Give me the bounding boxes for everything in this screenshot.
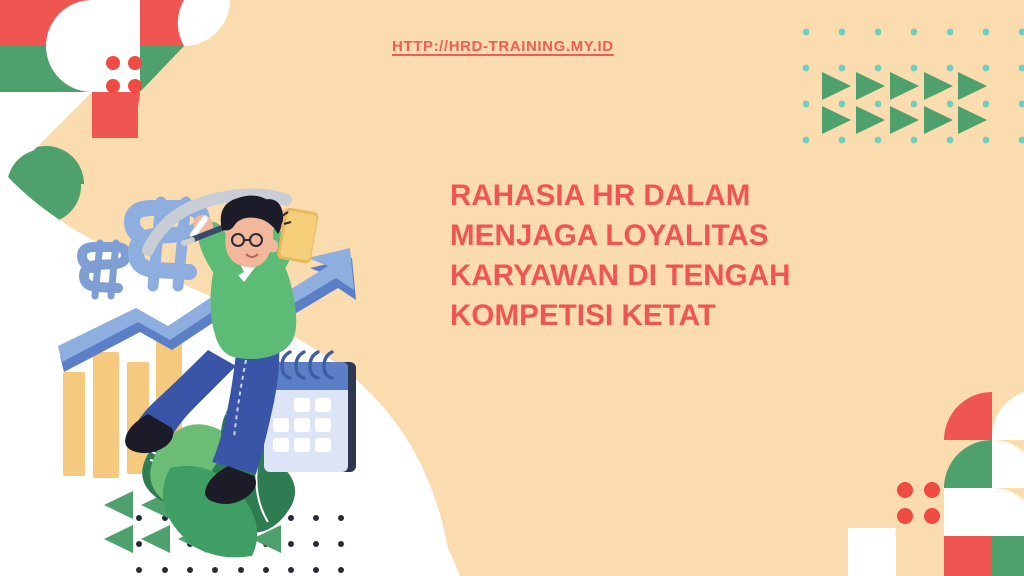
ear [270, 240, 278, 253]
website-url-link[interactable]: HTTP://HRD-TRAINING.MY.ID [392, 38, 614, 55]
poster-canvas: HTTP://HRD-TRAINING.MY.ID RAHASIA HR DAL… [0, 0, 1024, 576]
dollar-sign-small-icon [82, 243, 126, 296]
illustration-group [58, 194, 356, 557]
headline-line-1: RAHASIA HR DALAM [450, 176, 920, 216]
headline-line-3: KARYAWAN DI TENGAH [450, 256, 920, 296]
headline-line-2: MENJAGA LOYALITAS [450, 216, 920, 256]
dollar-sign-large-icon [132, 202, 202, 286]
headline-line-4: KOMPETISI KETAT [450, 296, 920, 336]
headline-block: RAHASIA HR DALAM MENJAGA LOYALITAS KARYA… [450, 176, 920, 336]
